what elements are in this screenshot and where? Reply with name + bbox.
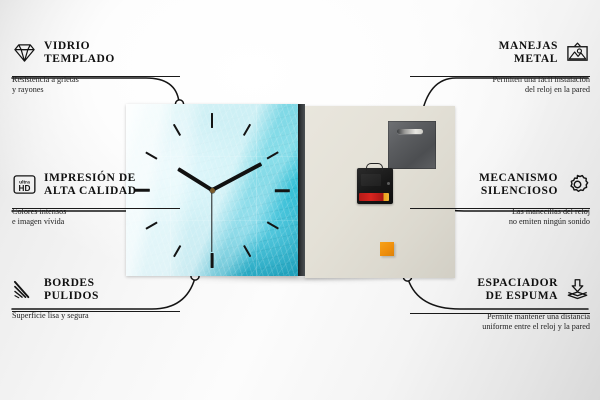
feature-rule: [12, 208, 180, 209]
feature-heading: ultra HD IMPRESIÓN DE ALTA CALIDAD: [12, 172, 180, 197]
feature-rule: [410, 313, 590, 314]
hour-hand: [177, 167, 213, 192]
feature-description: Superficie lisa y segura: [12, 311, 180, 321]
feature-title: IMPRESIÓN DE ALTA CALIDAD: [44, 172, 137, 197]
feature-espaciador-de-espuma: ESPACIADOR DE ESPUMA Permite mantener un…: [410, 277, 590, 333]
gear-icon: [565, 173, 590, 196]
feature-heading: MANEJAS METAL: [410, 40, 590, 65]
feature-title: MANEJAS METAL: [499, 40, 558, 65]
feature-manejas-metal: MANEJAS METAL Permiten una fácil instala…: [410, 40, 590, 96]
polished-edges-icon: [12, 278, 37, 301]
feature-title: BORDES PULIDOS: [44, 277, 99, 302]
feature-bordes-pulidos: BORDES PULIDOS Superficie lisa y segura: [12, 277, 180, 321]
battery: [359, 193, 389, 201]
feature-heading: VIDRIO TEMPLADO: [12, 40, 180, 65]
hanger-keyhole-slot: [397, 129, 423, 134]
diamond-icon: [12, 41, 37, 64]
clock-mechanism-box: [357, 168, 393, 204]
feature-heading: ESPACIADOR DE ESPUMA: [410, 277, 590, 302]
feature-mecanismo-silencioso: MECANISMO SILENCIOSO Las manecillas del …: [410, 172, 590, 228]
feature-rule: [12, 311, 180, 312]
metal-hanger-plate: [388, 121, 436, 169]
feature-rule: [12, 76, 180, 77]
feature-description: Las manecillas del reloj no emiten ningú…: [410, 207, 590, 227]
feature-rule: [410, 76, 590, 77]
foam-spacer-arrow-icon: [565, 278, 590, 301]
feature-description: Resistencia a grietas y rayones: [12, 75, 180, 95]
feature-title: VIDRIO TEMPLADO: [44, 40, 115, 65]
feature-title: MECANISMO SILENCIOSO: [479, 172, 558, 197]
infographic-canvas: VIDRIO TEMPLADO Resistencia a grietas y …: [0, 0, 600, 400]
feature-impresion-alta-calidad: ultra HD IMPRESIÓN DE ALTA CALIDAD Color…: [12, 172, 180, 228]
feature-heading: MECANISMO SILENCIOSO: [410, 172, 590, 197]
feature-vidrio-templado: VIDRIO TEMPLADO Resistencia a grietas y …: [12, 40, 180, 96]
feature-heading: BORDES PULIDOS: [12, 277, 180, 302]
mechanism-hanging-loop: [366, 163, 383, 171]
feature-description: Permiten una fácil instalación del reloj…: [410, 75, 590, 95]
center-cap: [210, 188, 215, 193]
feature-description: Permite mantener una distancia uniforme …: [410, 312, 590, 332]
feature-title: ESPACIADOR DE ESPUMA: [477, 277, 558, 302]
foam-spacer: [380, 242, 394, 256]
mechanism-dot: [387, 182, 390, 185]
feature-description: Colores intensos e imagen vívida: [12, 207, 180, 227]
ultra-hd-icon: ultra HD: [12, 173, 37, 196]
second-hand: [211, 190, 212, 252]
wall-frame-hanger-icon: [565, 41, 590, 64]
feature-rule: [410, 208, 590, 209]
minute-hand: [211, 162, 262, 191]
glass-edge: [298, 104, 305, 276]
svg-text:HD: HD: [19, 184, 31, 193]
mechanism-seam: [361, 174, 381, 186]
